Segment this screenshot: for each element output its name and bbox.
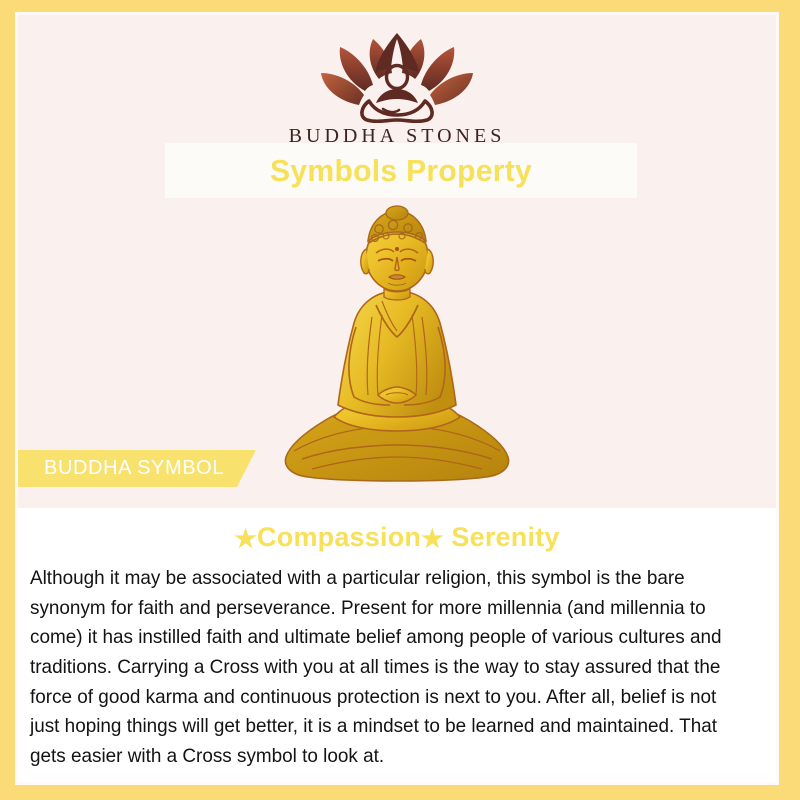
golden-seated-buddha-statue-icon bbox=[272, 205, 522, 495]
page-title: Symbols Property bbox=[270, 153, 532, 189]
title-band: Symbols Property bbox=[165, 143, 637, 198]
buddha-symbol-banner: BUDDHA SYMBOL bbox=[18, 450, 256, 487]
star-icon: ★ bbox=[421, 525, 444, 553]
brand-logo: BUDDHA STONES bbox=[18, 27, 776, 148]
traits-heading: ★Compassion★ Serenity bbox=[18, 522, 776, 554]
trait-second: Serenity bbox=[451, 522, 559, 552]
description-paragraph: Although it may be associated with a par… bbox=[30, 564, 746, 772]
buddha-symbol-label: BUDDHA SYMBOL bbox=[18, 457, 224, 480]
top-section: BUDDHA STONES Symbols Property bbox=[18, 15, 776, 508]
trait-first: Compassion bbox=[257, 522, 421, 552]
star-icon: ★ bbox=[234, 525, 257, 553]
content-panel: BUDDHA STONES Symbols Property bbox=[18, 15, 776, 782]
description-section: ★Compassion★ Serenity Although it may be… bbox=[18, 508, 776, 782]
lotus-meditation-icon bbox=[307, 27, 487, 123]
page-root: BUDDHA STONES Symbols Property bbox=[0, 0, 800, 800]
